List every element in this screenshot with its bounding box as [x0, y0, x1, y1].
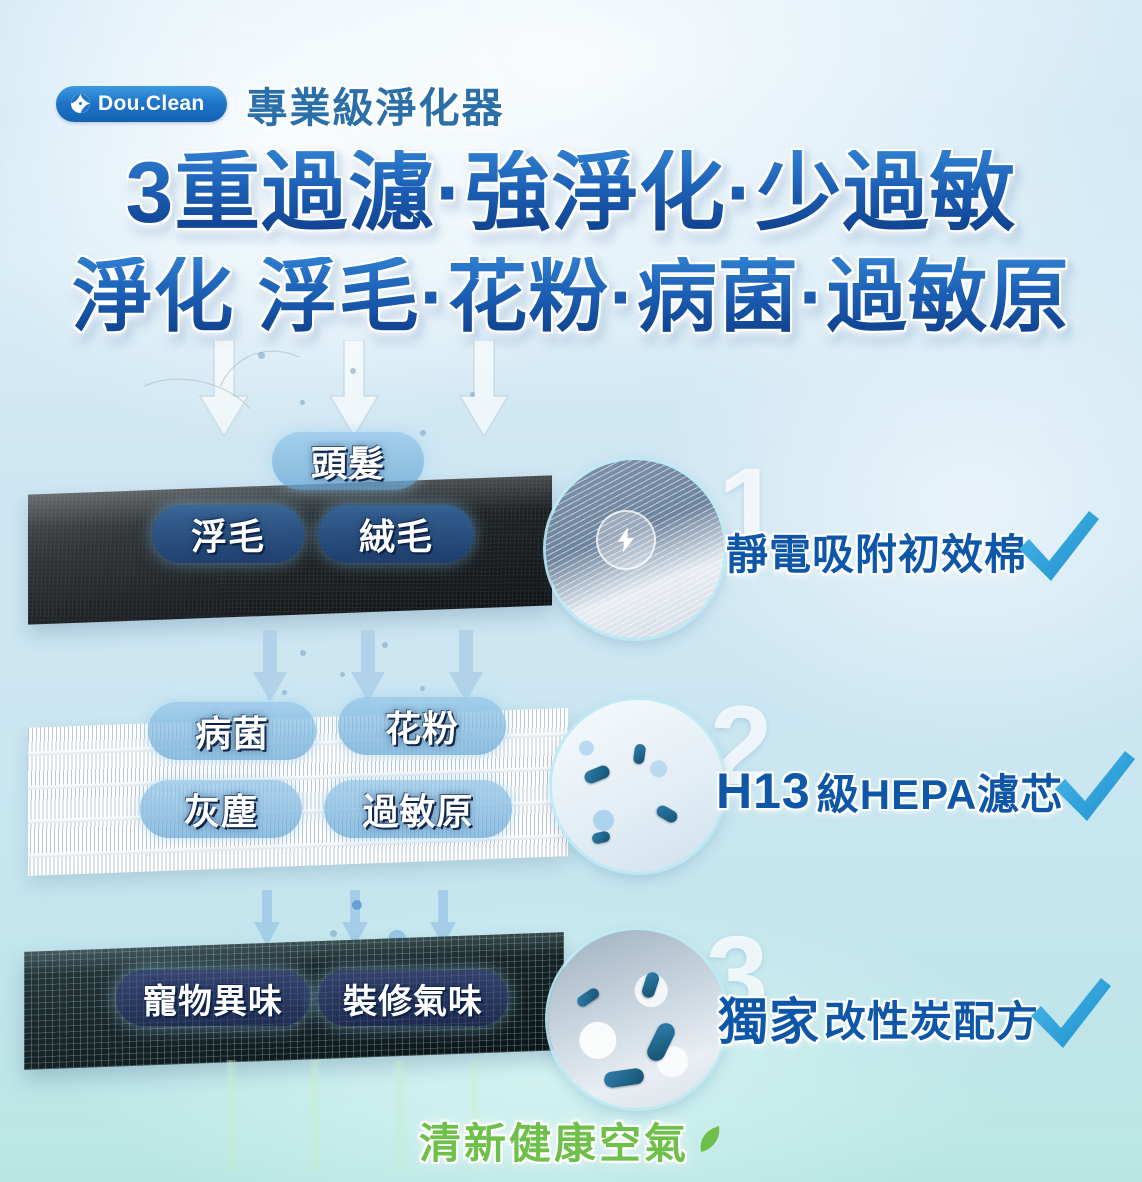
pill-stage2-0: 病菌: [148, 702, 316, 760]
dust-mote: [470, 392, 475, 397]
feature-stage3: 獨家 改性炭配方: [718, 972, 1117, 1064]
particle-decor: [633, 743, 647, 764]
dust-mote: [330, 930, 337, 937]
leaf-icon: [697, 1124, 723, 1158]
brand-tagline: 專業級淨化器: [247, 74, 505, 134]
dust-mote: [282, 690, 287, 695]
arrow-down-icon: [252, 890, 282, 946]
dust-mote: [340, 672, 345, 677]
pill-stage2-3: 過敏原: [324, 780, 512, 838]
dust-mote: [420, 430, 426, 436]
particle-decor: [575, 986, 601, 1009]
dust-mote: [420, 686, 425, 691]
dust-mote: [258, 352, 265, 359]
particle-decor: [603, 1067, 645, 1088]
product-infographic: Dou.Clean 專業級淨化器 3重過濾·強淨化·少過敏 淨化 浮毛·花粉·病…: [0, 0, 1142, 1182]
feature-stage1-label: 靜電吸附初效棉: [726, 521, 1027, 582]
pill-stage3-0: 寵物異味: [116, 970, 310, 1026]
feature-stage2: H13 級HEPA濾芯: [716, 745, 1141, 837]
dust-mote: [300, 650, 306, 656]
particle-decor: [654, 803, 679, 824]
lightning-bolt-icon: [596, 510, 656, 570]
footer-slogan: 清新健康空氣: [419, 1110, 689, 1171]
particle-decor: [591, 830, 611, 845]
feature-stage3-label: 改性炭配方: [824, 988, 1039, 1049]
particle-decor: [640, 971, 660, 1000]
dust-mote: [350, 368, 356, 374]
headline-primary: 3重過濾·強淨化·少過敏: [0, 150, 1142, 236]
pill-stage3-1: 裝修氣味: [318, 970, 508, 1026]
check-icon: [1025, 972, 1117, 1064]
feature-stage3-strong: 獨家: [718, 982, 820, 1054]
inset-photo-stage1: [546, 460, 724, 638]
pill-stage1-0: 頭髮: [272, 432, 424, 490]
inset-photo-stage2: [552, 700, 724, 872]
feature-stage2-label: 級HEPA濾芯: [817, 761, 1064, 822]
arrow-down-icon: [348, 630, 388, 702]
inset-photo-stage3: [548, 930, 726, 1108]
brand-badge: Dou.Clean: [56, 86, 227, 122]
check-icon: [1049, 745, 1141, 837]
pill-stage2-2: 灰塵: [140, 780, 302, 838]
headline-secondary: 淨化 浮毛·花粉·病菌·過敏原: [0, 257, 1142, 337]
arrow-down-icon: [446, 630, 486, 702]
particle-decor: [644, 1020, 678, 1064]
brand-name: Dou.Clean: [98, 93, 205, 114]
arrow-down-icon: [456, 340, 512, 436]
dust-mote: [382, 642, 388, 648]
dust-mote: [352, 900, 362, 910]
arrow-down-icon: [340, 890, 370, 946]
pill-stage1-1: 浮毛: [152, 505, 304, 563]
dust-mote: [300, 400, 305, 405]
check-icon: [1013, 505, 1105, 597]
brand-header: Dou.Clean 專業級淨化器: [56, 74, 505, 134]
pill-stage2-1: 花粉: [338, 697, 506, 755]
footer-slogan-row: 清新健康空氣: [0, 1110, 1142, 1171]
pill-stage1-2: 絨毛: [318, 505, 474, 563]
feature-stage1: 靜電吸附初效棉: [726, 505, 1105, 597]
particle-decor: [583, 764, 612, 786]
swirl-globe-icon: [70, 93, 91, 114]
feature-stage2-grade: H13: [716, 762, 811, 820]
